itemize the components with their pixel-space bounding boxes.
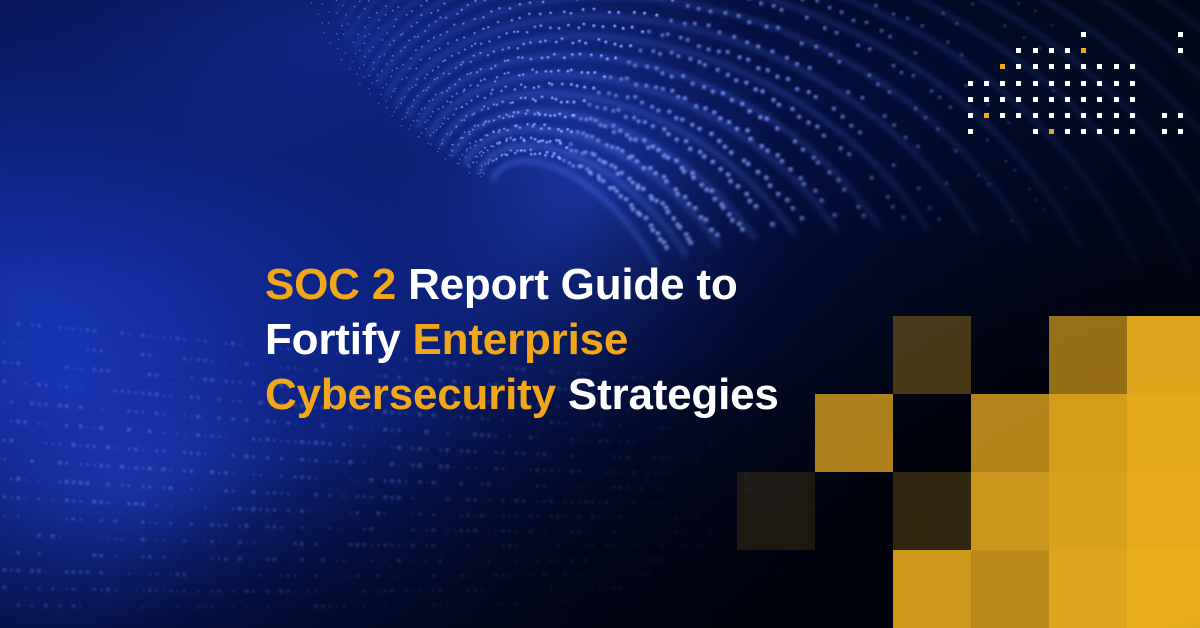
page-title-line-3: Cybersecurity Strategies [265,367,905,422]
title-text: Report Guide to [396,260,737,309]
title-text: Strategies [556,370,779,419]
page-title: SOC 2 Report Guide toFortify EnterpriseC… [265,257,905,422]
title-accent-text: SOC 2 [265,260,396,309]
title-text: Fortify [265,315,413,364]
title-accent-text: Enterprise [413,315,629,364]
page-title-line-1: SOC 2 Report Guide to [265,257,905,312]
title-accent-text: Cybersecurity [265,370,556,419]
page-title-line-2: Fortify Enterprise [265,312,905,367]
banner-hero: SOC 2 Report Guide toFortify EnterpriseC… [0,0,1200,628]
